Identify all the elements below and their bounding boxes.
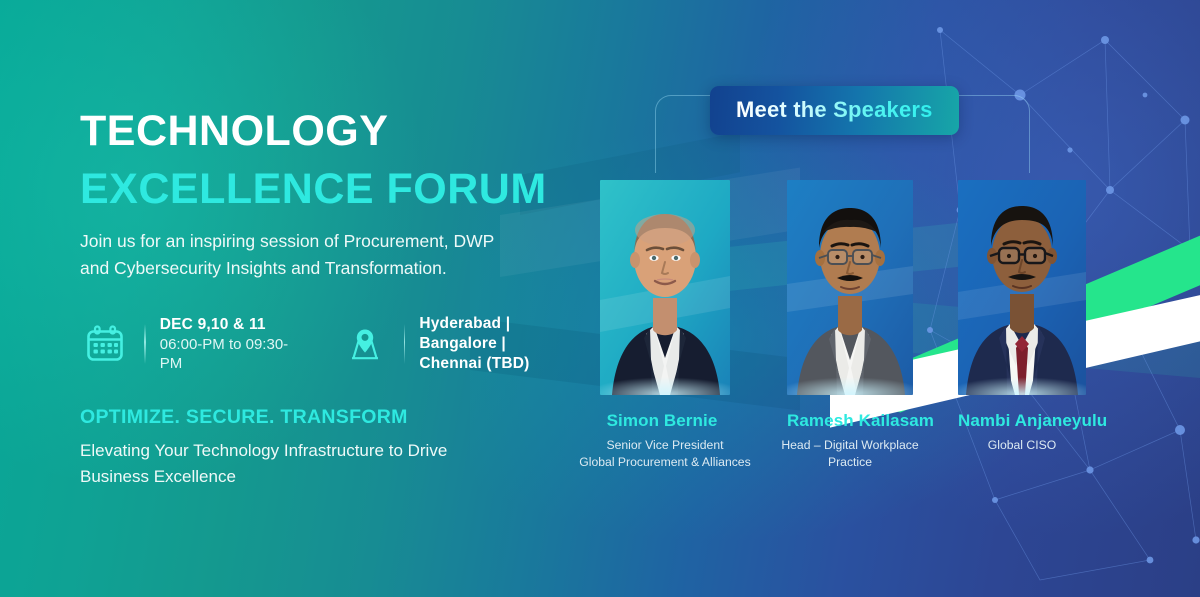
speaker-role: Senior Vice President Global Procurement… xyxy=(570,437,760,472)
speaker-photo xyxy=(787,180,913,395)
event-title-line2: EXCELLENCE FORUM xyxy=(80,168,547,211)
speaker-photo xyxy=(958,180,1086,395)
tagline: OPTIMIZE. SECURE. TRANSFORM xyxy=(80,406,408,429)
speaker-name: Nambi Anjaneyulu xyxy=(958,411,1086,431)
speaker-role-line1: Global CISO xyxy=(942,437,1102,454)
map-pin-icon xyxy=(340,320,390,368)
speaker-card: Ramesh Kailasam Head – Digital Workplace… xyxy=(787,180,913,472)
event-subtitle: Join us for an inspiring session of Proc… xyxy=(80,228,520,281)
divider xyxy=(144,324,146,364)
left-content: TECHNOLOGY EXCELLENCE FORUM Join us for … xyxy=(80,0,580,597)
speaker-role-line2: Global Procurement & Alliances xyxy=(570,454,760,471)
event-details-row: DEC 9,10 & 11 06:00-PM to 09:30-PM Hyder… xyxy=(80,314,580,374)
venue-text: Hyderabad | Bangalore | Chennai (TBD) xyxy=(419,314,580,374)
time-label: 06:00-PM to 09:30-PM xyxy=(160,335,292,374)
speaker-role-line2: Practice xyxy=(765,454,935,471)
venue-line2: Chennai (TBD) xyxy=(419,354,580,374)
speaker-role: Global CISO xyxy=(942,437,1102,454)
date-text: DEC 9,10 & 11 06:00-PM to 09:30-PM xyxy=(160,315,292,374)
speakers-section: Meet the Speakers xyxy=(560,0,1200,597)
divider xyxy=(404,324,406,364)
event-title-line1: TECHNOLOGY xyxy=(80,110,388,153)
speaker-card: Nambi Anjaneyulu Global CISO xyxy=(958,180,1086,454)
speaker-role: Head – Digital Workplace Practice xyxy=(765,437,935,472)
badge-label: Meet the Speakers xyxy=(736,97,933,123)
venue-block: Hyderabad | Bangalore | Chennai (TBD) xyxy=(340,314,580,374)
venue-line1: Hyderabad | Bangalore | xyxy=(419,314,580,354)
meet-the-speakers-badge: Meet the Speakers xyxy=(710,86,959,135)
speaker-name: Simon Bernie xyxy=(594,411,730,431)
speaker-photo xyxy=(600,180,730,395)
speaker-role-line1: Head – Digital Workplace xyxy=(765,437,935,454)
date-label: DEC 9,10 & 11 xyxy=(160,315,292,335)
tagline-subtext: Elevating Your Technology Infrastructure… xyxy=(80,438,480,489)
event-banner: TECHNOLOGY EXCELLENCE FORUM Join us for … xyxy=(0,0,1200,597)
speaker-card: Simon Bernie Senior Vice President Globa… xyxy=(600,180,730,472)
speaker-role-line1: Senior Vice President xyxy=(570,437,760,454)
speaker-name: Ramesh Kailasam xyxy=(787,411,913,431)
calendar-icon xyxy=(80,320,130,368)
date-block: DEC 9,10 & 11 06:00-PM to 09:30-PM xyxy=(80,315,292,374)
